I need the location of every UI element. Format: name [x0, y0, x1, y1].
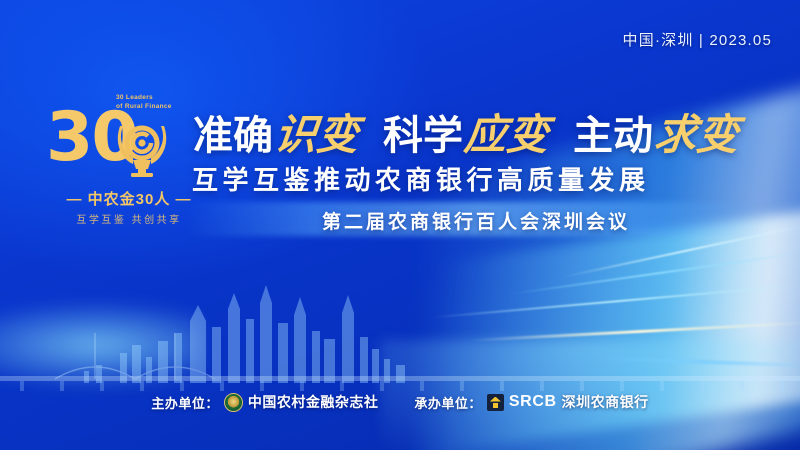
host-name: 中国农村金融杂志社	[248, 392, 379, 412]
organizer-row: 主办单位： 中国农村金融杂志社 承办单位： SRCB 深圳农商银行	[0, 392, 800, 412]
coorganizer-role-label: 承办单位：	[414, 393, 482, 412]
event-poster: 中国·深圳 | 2023.05 30 Leaders of Rural Fina…	[0, 0, 800, 450]
host-role-label: 主办单位：	[151, 393, 219, 412]
coorganizer-name-cn: 深圳农商银行	[562, 392, 649, 412]
headline-part-5: 主动	[573, 103, 653, 161]
headline-part-1: 准确	[193, 103, 273, 161]
headline-part-2: 识变	[272, 101, 362, 162]
headline-part-4: 应变	[462, 101, 552, 162]
coorganizer-name-en: SRCB	[509, 393, 557, 411]
srcb-logo-icon	[487, 394, 504, 411]
organizer-host: 主办单位： 中国农村金融杂志社	[151, 392, 378, 412]
china-rural-finance-seal-icon	[224, 393, 243, 412]
event-date: 中国·深圳 | 2023.05	[623, 29, 772, 50]
conference-title: 第二届农商银行百人会深圳会议	[186, 207, 766, 234]
headline-subtitle: 互学互鉴推动农商银行高质量发展	[192, 160, 650, 197]
rural-finance-emblem-icon	[107, 112, 177, 182]
headline-part-3: 科学	[383, 103, 463, 161]
organizer-coorganizer: 承办单位： SRCB 深圳农商银行	[414, 392, 648, 412]
headline-part-6: 求变	[652, 101, 742, 162]
headline: 准确 识变 科学 应变 主动 求变	[193, 101, 741, 162]
